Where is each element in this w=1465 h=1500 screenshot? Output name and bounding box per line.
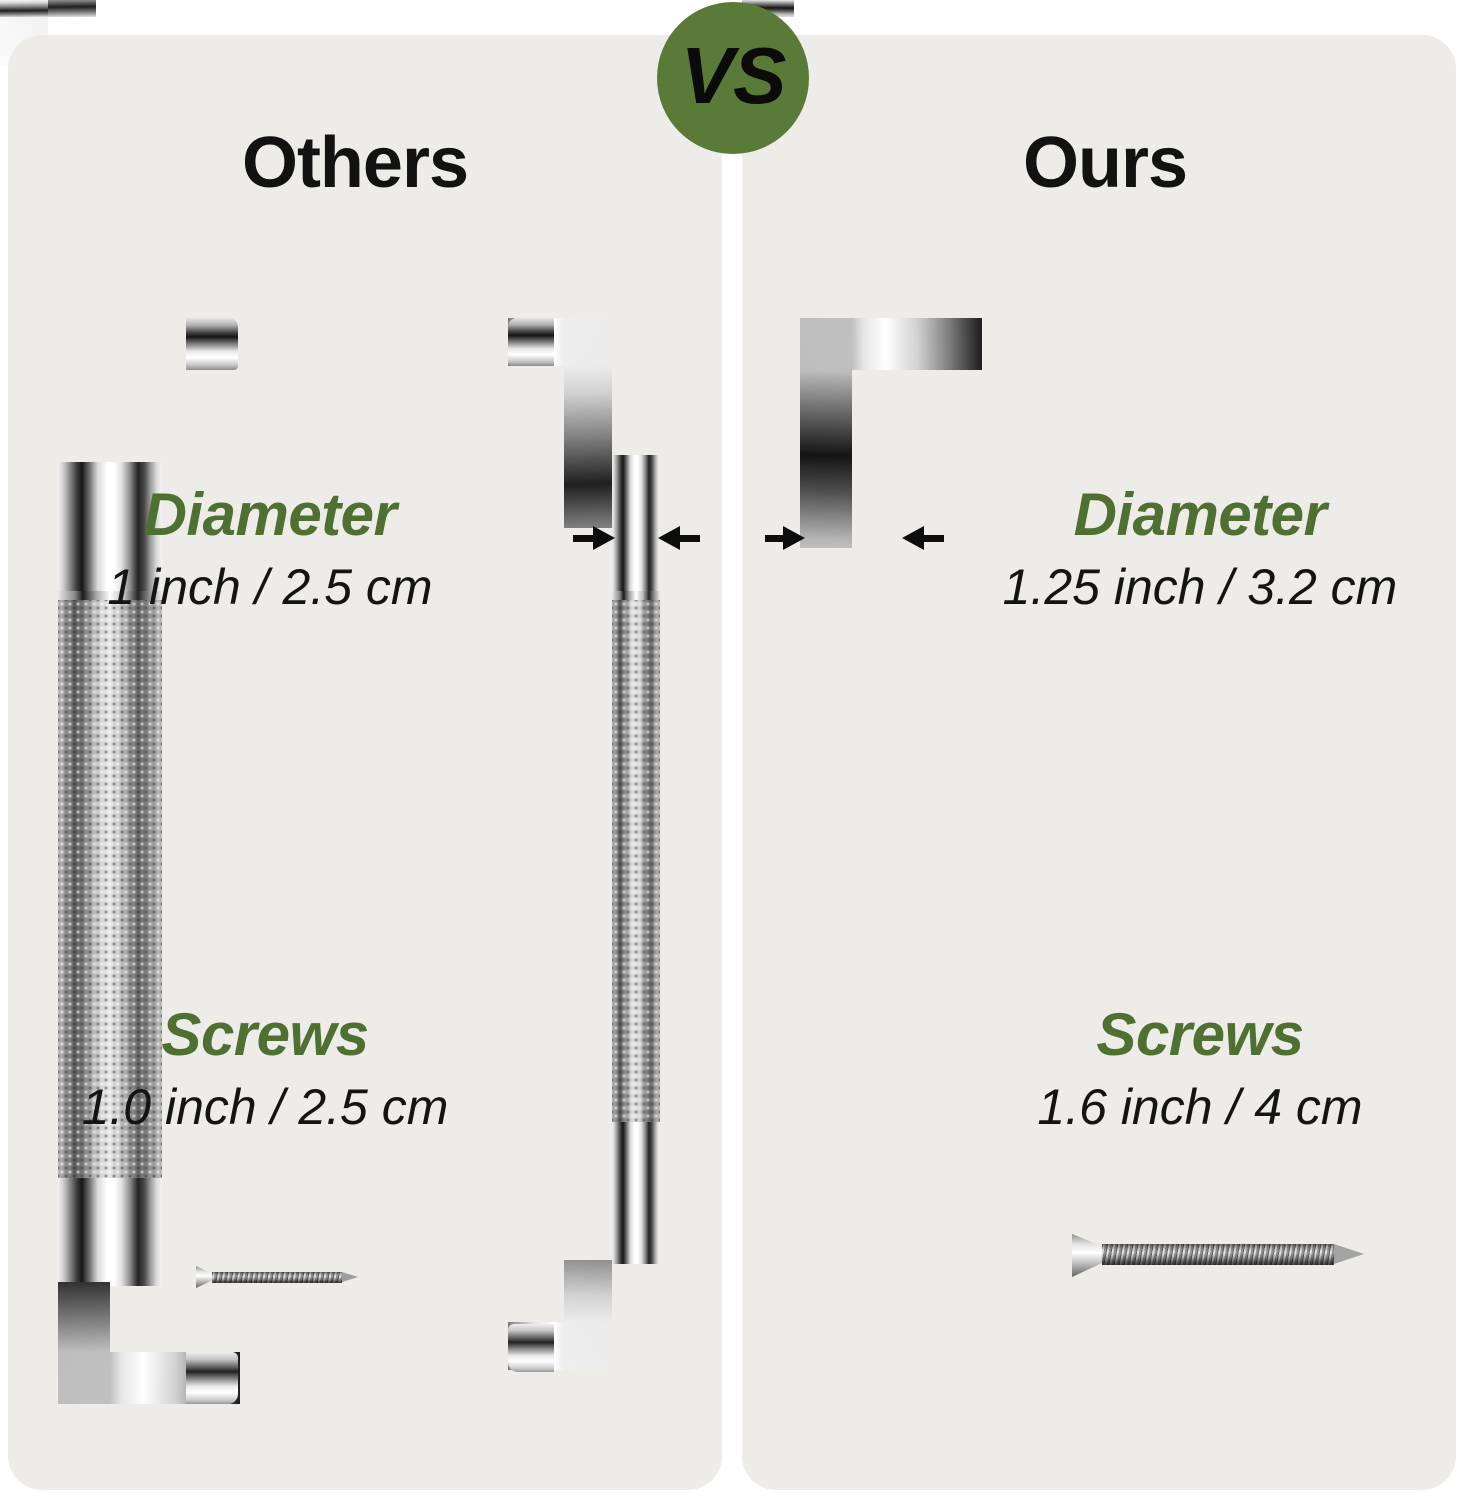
diameter-arrow-right-ours [922, 535, 944, 542]
grab-bar-top-flange-ours [186, 318, 238, 370]
spec-diameter-ours: Diameter 1.25 inch / 3.2 cm [955, 480, 1445, 620]
spec-diameter-ours-value: 1.25 inch / 3.2 cm [955, 555, 1445, 620]
spec-screws-others: Screws 1.0 inch / 2.5 cm [20, 1000, 510, 1140]
spec-screws-ours-label: Screws [965, 1000, 1435, 1069]
spec-diameter-others-label: Diameter [30, 480, 510, 549]
spec-screws-ours-value: 1.6 inch / 4 cm [965, 1075, 1435, 1140]
diameter-arrow-right-others [678, 535, 700, 542]
grab-bar-top-flange-others [508, 318, 554, 366]
grab-bar-lower-tube-ours [58, 1178, 162, 1286]
spec-diameter-others: Diameter 1 inch / 2.5 cm [30, 480, 510, 620]
spec-diameter-ours-label: Diameter [955, 480, 1445, 549]
screw-tip-ours [1334, 1244, 1367, 1264]
versus-badge-label: VS [681, 36, 786, 116]
diameter-arrow-left-others [573, 535, 595, 542]
spec-screws-others-value: 1.0 inch / 2.5 cm [20, 1075, 510, 1140]
screw-head-ours [1072, 1233, 1106, 1277]
screw-tip-others [342, 1272, 361, 1282]
grab-bar-lower-tube-others [612, 1122, 660, 1264]
screw-shank-others [212, 1272, 342, 1283]
grab-bar-bottom-flange-ours [186, 1352, 238, 1404]
versus-badge: VS [657, 2, 809, 154]
spec-screws-others-label: Screws [20, 1000, 510, 1069]
screw-shank-ours [1102, 1244, 1334, 1265]
spec-screws-ours: Screws 1.6 inch / 4 cm [965, 1000, 1435, 1140]
screw-others [196, 1265, 364, 1291]
diameter-arrow-left-ours [765, 535, 785, 542]
spec-diameter-others-value: 1 inch / 2.5 cm [30, 555, 510, 620]
grab-bar-bottom-flange-others [508, 1324, 554, 1372]
grab-bar-grip-others [612, 600, 660, 1122]
screw-ours [1072, 1233, 1372, 1279]
grab-bar-upper-tube-others [612, 455, 660, 600]
